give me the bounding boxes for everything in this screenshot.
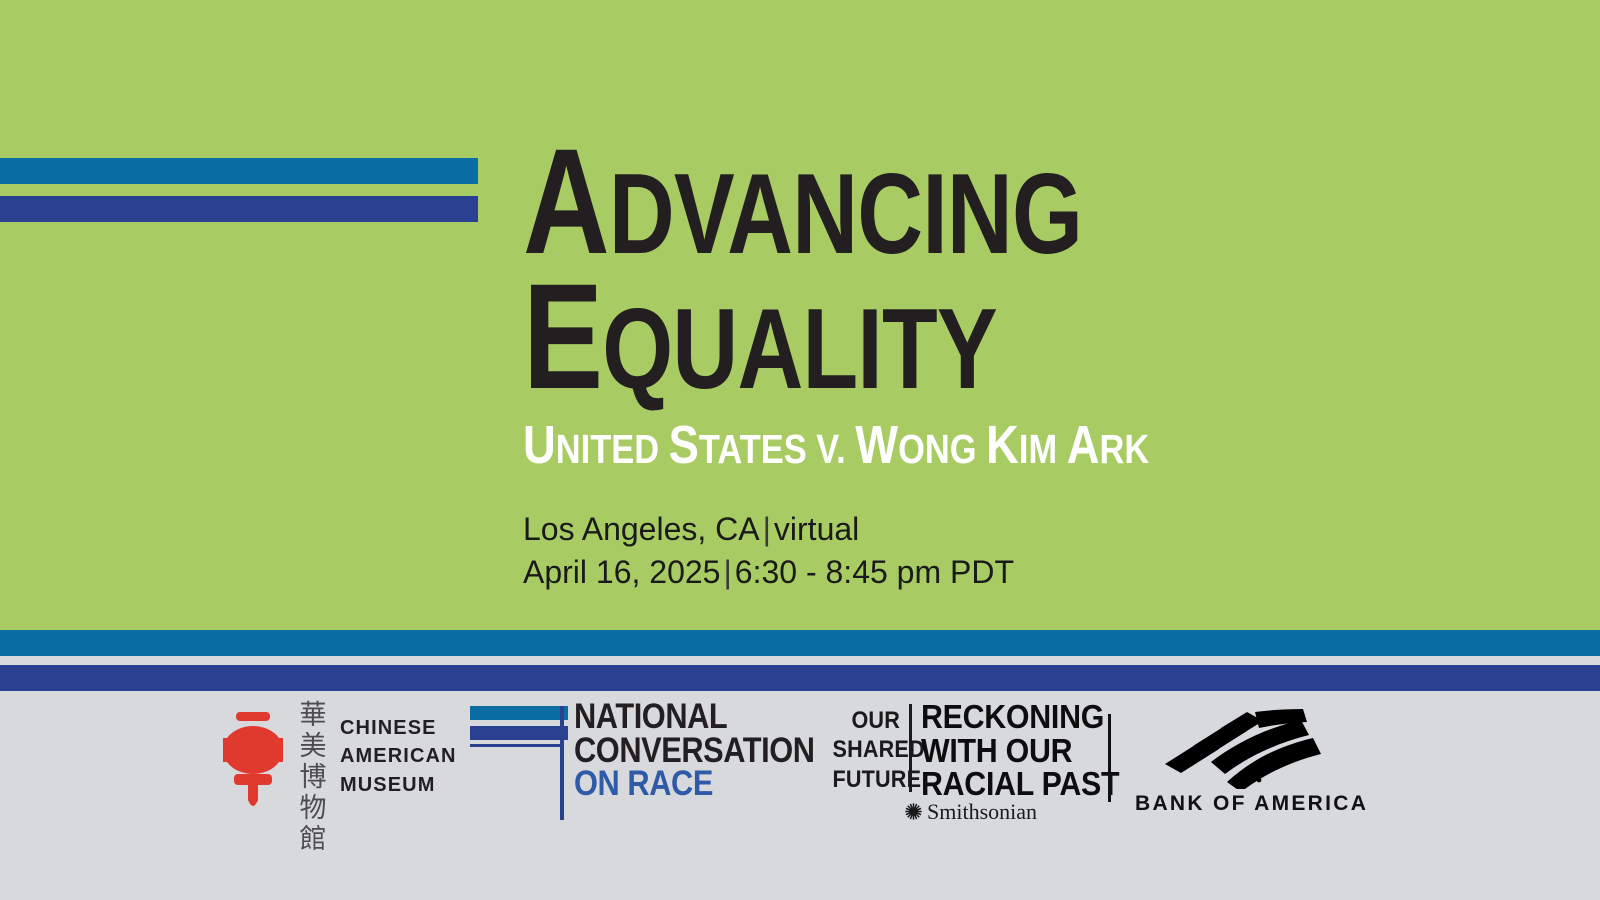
cam-wordmark-line-1: CHINESE: [340, 714, 457, 742]
subtitle-word-united: NITED: [556, 426, 659, 472]
title-line-2-rest: QUALITY: [602, 286, 997, 413]
decorative-rule-navy-top: [0, 196, 478, 222]
osf-line-racial-past: RACIAL PAST: [921, 767, 1119, 801]
event-date: April 16, 2025: [523, 554, 720, 590]
title-line-2-initial: E: [523, 252, 602, 420]
smithsonian-sunburst-icon: [905, 803, 922, 820]
lantern-icon: [222, 712, 284, 817]
osf-line-with-our: WITH OUR: [921, 734, 1119, 768]
event-title-line-1: ADVANCING: [523, 140, 1355, 263]
osf-line-future: FUTURE: [833, 765, 901, 794]
cam-wordmark-line-2: AMERICAN: [340, 742, 457, 770]
hero-banner: ADVANCING EQUALITY UNITED STATES V. WONG…: [0, 0, 1600, 630]
ncor-vertical-rule: [560, 706, 564, 820]
subtitle-initial-k: K: [986, 415, 1019, 475]
subtitle-word-ark: RK: [1099, 426, 1149, 472]
subtitle-initial-u: U: [523, 415, 556, 475]
event-datetime-line: April 16, 2025|6:30 - 8:45 pm PDT: [523, 551, 1014, 594]
ncor-bar-teal: [470, 706, 568, 720]
decorative-rule-gap: [0, 656, 1600, 665]
osf-line-reckoning: RECKONING: [921, 700, 1119, 734]
ncor-line-conversation: CONVERSATION: [574, 734, 815, 768]
detail-separator-1: |: [760, 511, 774, 547]
osf-line-shared: SHARED: [833, 735, 901, 764]
event-title-block: ADVANCING EQUALITY UNITED STATES V. WONG…: [523, 140, 1563, 472]
event-city: Los Angeles, CA: [523, 511, 760, 547]
subtitle-word-states: TATES: [699, 426, 807, 472]
decorative-rule-teal-top: [0, 158, 478, 184]
title-line-1-rest: DVANCING: [609, 151, 1082, 278]
ncor-horizontal-rule: [470, 744, 564, 747]
ncor-bar-navy: [470, 726, 568, 740]
subtitle-word-kim: IM: [1019, 426, 1057, 472]
ncor-line-national: NATIONAL: [574, 700, 815, 734]
smithsonian-wordmark: Smithsonian: [927, 799, 1037, 824]
subtitle-initial-s: S: [669, 415, 699, 475]
event-location-line: Los Angeles, CA|virtual: [523, 508, 1014, 551]
detail-separator-2: |: [720, 554, 734, 590]
decorative-rule-teal-bottom: [0, 630, 1600, 656]
osf-line-our: OUR: [833, 706, 901, 735]
boa-divider-rule: [1108, 714, 1111, 802]
osf-left-lockup: OUR SHARED FUTURE: [833, 706, 901, 794]
osf-right-lockup: RECKONING WITH OUR RACIAL PAST: [921, 700, 1119, 801]
cam-hanzi-5: 館: [292, 824, 334, 855]
event-time: 6:30 - 8:45 pm PDT: [735, 554, 1014, 590]
event-details: Los Angeles, CA|virtual April 16, 2025|6…: [523, 508, 1014, 594]
subtitle-word-wong: ONG: [898, 426, 976, 472]
subtitle-initial-w: W: [855, 415, 898, 475]
cam-hanzi-4: 物: [292, 793, 334, 824]
cam-hanzi-3: 博: [292, 762, 334, 793]
subtitle-word-versus: V.: [816, 426, 845, 472]
event-title-line-2: EQUALITY: [523, 275, 1355, 398]
cam-hanzi-1: 華: [292, 700, 334, 731]
boa-wordmark: BANK OF AMERICA: [1135, 792, 1350, 816]
cam-hanzi-column: 華 美 博 物 館: [292, 700, 334, 855]
event-mode: virtual: [774, 511, 859, 547]
boa-flagscape-icon: [1163, 704, 1323, 789]
ncor-wordmark: NATIONAL CONVERSATION ON RACE: [574, 700, 815, 801]
cam-hanzi-2: 美: [292, 731, 334, 762]
case-name-subtitle: UNITED STATES V. WONG KIM ARK: [523, 418, 1397, 472]
smithsonian-lockup: Smithsonian: [905, 799, 1037, 825]
decorative-rule-navy-bottom: [0, 665, 1600, 691]
subtitle-initial-a: A: [1067, 415, 1100, 475]
ncor-line-on-race: ON RACE: [574, 767, 815, 801]
cam-wordmark: CHINESE AMERICAN MUSEUM: [340, 714, 457, 799]
osf-divider-rule: [909, 704, 912, 792]
cam-wordmark-line-3: MUSEUM: [340, 771, 457, 799]
